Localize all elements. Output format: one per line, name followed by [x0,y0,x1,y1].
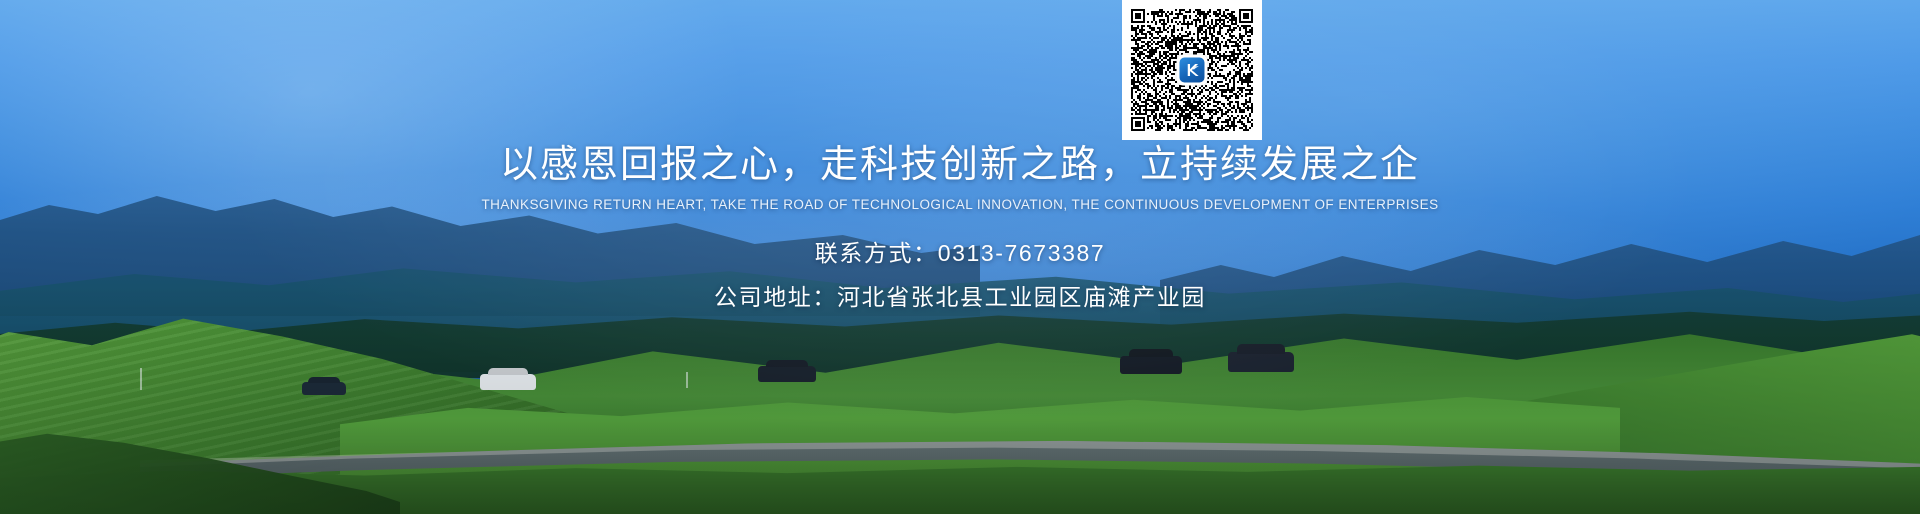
company-address-line: 公司地址：河北省张北县工业园区庙滩产业园 [714,281,1206,313]
logo-bird-icon [1184,62,1201,79]
banner-headline: 以感恩回报之心，走科技创新之路，立持续发展之企 [500,143,1420,187]
banner-text-overlay: 以感恩回报之心，走科技创新之路，立持续发展之企 THANKSGIVING RET… [0,0,1920,514]
banner-subheadline: THANKSGIVING RETURN HEART, TAKE THE ROAD… [481,196,1438,214]
hero-banner: 以感恩回报之心，走科技创新之路，立持续发展之企 THANKSGIVING RET… [0,0,1920,514]
qr-code-panel[interactable] [1122,0,1262,140]
contact-phone-line: 联系方式：0313-7673387 [815,237,1106,269]
company-logo-mark [1180,58,1205,83]
qr-center-logo [1177,55,1208,86]
qr-code-canvas[interactable] [1131,9,1253,131]
